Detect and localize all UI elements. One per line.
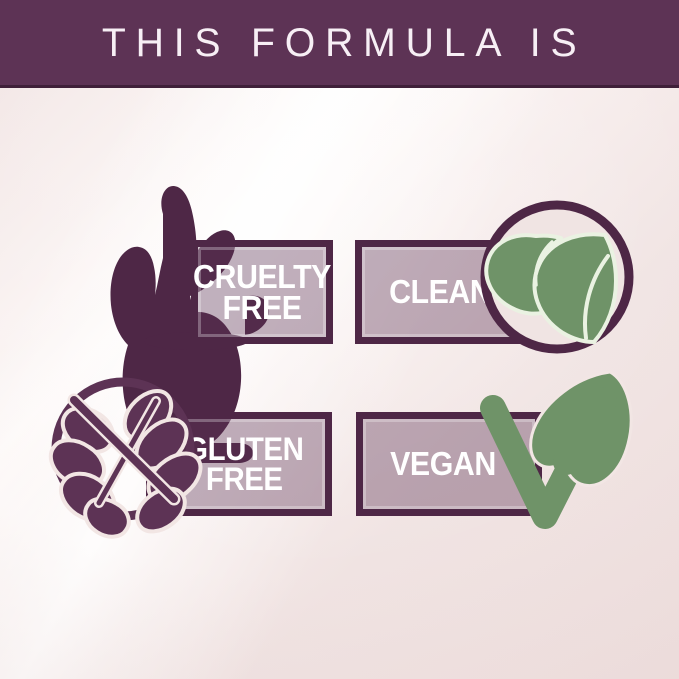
badge-vegan: VEGAN xyxy=(0,0,679,679)
vegan-panel: VEGAN xyxy=(356,412,542,516)
leaf-checkmark-icon xyxy=(0,0,679,679)
vegan-label: VEGAN xyxy=(370,419,528,509)
formula-claims-infographic: THIS FORMULA IS CRUELTY FREE CLEAN xyxy=(0,0,679,679)
